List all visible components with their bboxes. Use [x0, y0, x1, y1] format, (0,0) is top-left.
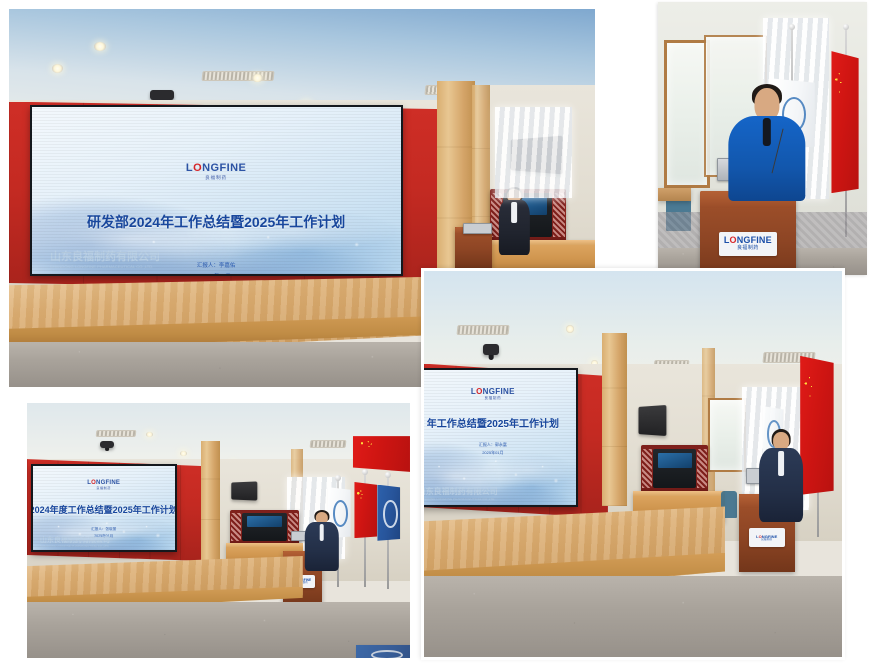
- person-presenter: [746, 84, 788, 199]
- slide-title: 研发部2024年工作总结暨2025年工作计划: [87, 212, 345, 232]
- red-banner: [353, 436, 410, 472]
- wood-column: [201, 441, 220, 561]
- av-console-rack: [641, 445, 708, 495]
- podium-logo-cn: 良福制药: [761, 539, 772, 542]
- side-table: [658, 188, 691, 202]
- floor-mat: [356, 645, 410, 658]
- podium-logo-text: LONGFINE: [724, 236, 772, 245]
- slide-footer: 山东良福制药有限公司 SHANDONG LONGFINE PHARMACEUTI…: [50, 248, 327, 269]
- china-flag: [354, 482, 377, 538]
- ceiling-downlight: [252, 74, 263, 83]
- slide-footer: 山东良福制药有限公司 SHANDONG LONGFINE PHARMACEUTI…: [40, 535, 146, 548]
- china-flag: [831, 51, 858, 193]
- slide-logo-cn: 良福制药: [484, 397, 501, 401]
- slide-title: 2024年度工作总结暨2025年工作计划: [31, 503, 177, 516]
- ceiling-downlight: [94, 42, 106, 52]
- slide-presenter: 汇报人：郭永富: [479, 442, 507, 448]
- led-display-screen[interactable]: LONGFINE 良福制药 研发部2024年工作总结暨2025年工作计划 汇报人…: [30, 105, 403, 275]
- slide-footer-cn: 山东良福制药有限公司: [424, 487, 498, 496]
- window: [708, 398, 746, 471]
- slide-logo: LONGFINE 良福制药: [87, 480, 120, 490]
- ceiling-vent: [202, 71, 275, 81]
- hall-floor: [27, 602, 410, 658]
- led-display-screen[interactable]: LONGFINE 良福制药 2024年度工作总结暨2025年工作计划 汇报人：张…: [31, 464, 177, 552]
- wood-column: [602, 333, 627, 507]
- photo-hall-wide-right[interactable]: LONGFINE 良福制药 年工作总结暨2025年工作计划 汇报人：郭永富 20…: [421, 268, 845, 660]
- hall-room-2: LONGFINE 良福制药: [658, 2, 867, 275]
- podium-nameplate: LONGFINE 良福制药: [749, 528, 785, 547]
- wall-speaker: [231, 481, 257, 500]
- slide-logo: LONGFINE 良福制药: [471, 388, 515, 401]
- collage-canvas: LONGFINE 良福制药 研发部2024年工作总结暨2025年工作计划 汇报人…: [0, 0, 875, 670]
- ceiling-vent: [96, 430, 137, 437]
- photo-speaker-closeup[interactable]: LONGFINE 良福制药: [658, 2, 867, 275]
- person-presenter: [310, 510, 333, 571]
- window-curtain: [495, 107, 571, 198]
- slide-footer-cn: 山东良福制药有限公司: [40, 537, 110, 544]
- ceiling-vent: [310, 440, 347, 448]
- slide-presenter: 汇报人：张晓丽: [91, 527, 116, 532]
- led-display-screen[interactable]: LONGFINE 良福制药 年工作总结暨2025年工作计划 汇报人：郭永富 20…: [424, 368, 578, 507]
- blue-flag: [377, 485, 400, 541]
- hall-floor: [424, 576, 842, 657]
- slide-title: 年工作总结暨2025年工作计划: [427, 415, 559, 430]
- photo-hall-wide-left[interactable]: LONGFINE 良福制药 2024年度工作总结暨2025年工作计划 汇报人：张…: [27, 403, 410, 658]
- ceiling-vent: [457, 325, 510, 335]
- china-flag: [800, 356, 833, 495]
- slide-date: 2025年01月: [201, 272, 230, 276]
- slide-logo-text: LONGFINE: [186, 162, 246, 174]
- hall-room-3: LONGFINE 良福制药 2024年度工作总结暨2025年工作计划 汇报人：张…: [27, 403, 410, 658]
- laptop: [463, 223, 491, 235]
- ceiling-projector: [483, 344, 500, 355]
- slide-logo-cn: 良福制药: [96, 487, 111, 490]
- slide-footer-cn: 山东良福制药有限公司: [50, 251, 160, 263]
- podium-logo-cn: 良福制药: [737, 246, 759, 251]
- slide-logo-cn: 良福制药: [205, 176, 227, 181]
- slide-logo: LONGFINE 良福制药: [186, 163, 246, 181]
- slide-footer: 山东良福制药有限公司 SHANDONG LONGFINE PHARMACEUTI…: [424, 486, 543, 501]
- slide-footer-en: SHANDONG LONGFINE PHARMACEUTICAL CO.,LTD…: [40, 545, 146, 548]
- slide-footer-en: SHANDONG LONGFINE PHARMACEUTICAL CO.,LTD…: [424, 497, 543, 501]
- slide-date: 2025年01月: [482, 450, 503, 456]
- ceiling-projector: [100, 441, 114, 448]
- wall-speaker: [639, 405, 667, 436]
- hall-room-4: LONGFINE 良福制药 年工作总结暨2025年工作计划 汇报人：郭永富 20…: [424, 271, 842, 657]
- slide-logo-text: LONGFINE: [471, 388, 515, 396]
- ceiling-downlight: [566, 325, 574, 333]
- podium-nameplate: LONGFINE 良福制药: [719, 232, 777, 256]
- person-presenter: [767, 429, 796, 522]
- slide-footer-en: SHANDONG LONGFINE PHARMACEUTICAL CO.,LTD…: [50, 264, 327, 269]
- ceiling-projector: [150, 90, 175, 100]
